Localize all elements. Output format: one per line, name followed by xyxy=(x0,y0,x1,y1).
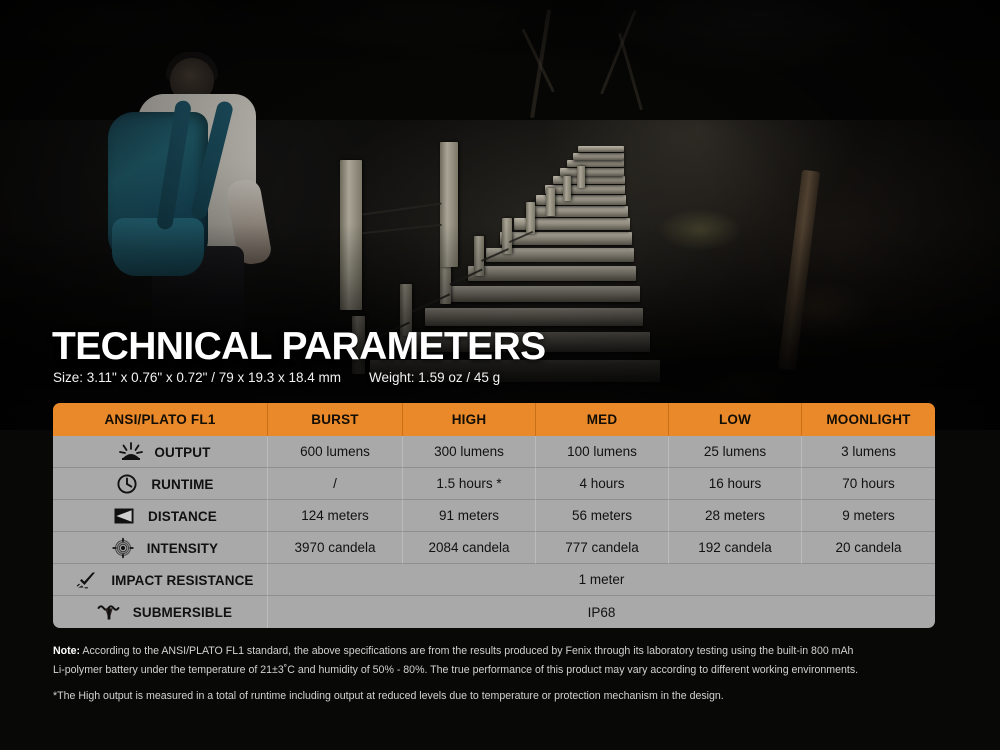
row-label-impact-resistance: IMPACT RESISTANCE xyxy=(53,564,268,596)
size-weight-line: Size: 3.11" x 0.76" x 0.72" / 79 x 19.3 … xyxy=(53,370,500,385)
row-label-text: DISTANCE xyxy=(148,509,217,524)
table-row: INTENSITY 3970 candela 2084 candela 777 … xyxy=(53,532,935,564)
row-label-distance: DISTANCE xyxy=(53,500,268,532)
cell-runtime-high: 1.5 hours * xyxy=(403,468,536,500)
table-row: DISTANCE 124 meters 91 meters 56 meters … xyxy=(53,500,935,532)
cell-distance-moonlight: 9 meters xyxy=(802,500,935,532)
clock-icon xyxy=(114,473,140,495)
cell-output-high: 300 lumens xyxy=(403,436,536,468)
cell-distance-low: 28 meters xyxy=(669,500,802,532)
cell-intensity-high: 2084 candela xyxy=(403,532,536,564)
cell-output-low: 25 lumens xyxy=(669,436,802,468)
cell-output-burst: 600 lumens xyxy=(268,436,403,468)
target-intensity-icon xyxy=(110,537,136,559)
cell-runtime-low: 16 hours xyxy=(669,468,802,500)
cell-distance-med: 56 meters xyxy=(536,500,669,532)
table-row: SUBMERSIBLE IP68 xyxy=(53,596,935,628)
cell-output-moonlight: 3 lumens xyxy=(802,436,935,468)
table-row: RUNTIME / 1.5 hours * 4 hours 16 hours 7… xyxy=(53,468,935,500)
footnote-line-3: *The High output is measured in a total … xyxy=(53,690,724,702)
weight-label: Weight: 1.59 oz / 45 g xyxy=(369,370,500,385)
cell-submersible-value: IP68 xyxy=(268,596,935,628)
table-row: OUTPUT 600 lumens 300 lumens 100 lumens … xyxy=(53,436,935,468)
row-label-text: OUTPUT xyxy=(154,445,210,460)
column-header-ansi: ANSI/PLATO FL1 xyxy=(53,403,268,436)
cell-runtime-med: 4 hours xyxy=(536,468,669,500)
column-header-burst: BURST xyxy=(268,403,403,436)
technical-parameters-table: ANSI/PLATO FL1 BURST HIGH MED LOW MOONLI… xyxy=(53,403,935,628)
cell-runtime-moonlight: 70 hours xyxy=(802,468,935,500)
beam-distance-icon xyxy=(111,505,137,527)
cell-intensity-burst: 3970 candela xyxy=(268,532,403,564)
column-header-med: MED xyxy=(536,403,669,436)
row-label-output: OUTPUT xyxy=(53,436,268,468)
row-label-intensity: INTENSITY xyxy=(53,532,268,564)
column-header-low: LOW xyxy=(669,403,802,436)
row-label-submersible: SUBMERSIBLE xyxy=(53,596,268,628)
light-burst-icon xyxy=(118,441,144,463)
row-label-runtime: RUNTIME xyxy=(53,468,268,500)
cell-distance-burst: 124 meters xyxy=(268,500,403,532)
column-header-high: HIGH xyxy=(403,403,536,436)
footnote-line-1: According to the ANSI/PLATO FL1 standard… xyxy=(80,645,853,657)
technical-parameters-table-wrapper: ANSI/PLATO FL1 BURST HIGH MED LOW MOONLI… xyxy=(53,403,935,628)
cell-distance-high: 91 meters xyxy=(403,500,536,532)
column-header-moonlight: MOONLIGHT xyxy=(802,403,935,436)
cell-output-med: 100 lumens xyxy=(536,436,669,468)
footnote-line-3-wrap: *The High output is measured in a total … xyxy=(53,687,953,706)
footnote-primary: Note: According to the ANSI/PLATO FL1 st… xyxy=(53,642,953,661)
row-label-text: INTENSITY xyxy=(147,541,218,556)
footnotes: Note: According to the ANSI/PLATO FL1 st… xyxy=(53,642,953,706)
table-row: IMPACT RESISTANCE 1 meter xyxy=(53,564,935,596)
footnote-line-2: Li-polymer battery under the temperature… xyxy=(53,664,858,676)
size-label: Size: 3.11" x 0.76" x 0.72" / 79 x 19.3 … xyxy=(53,370,341,385)
row-label-text: SUBMERSIBLE xyxy=(133,605,232,620)
table-header-row: ANSI/PLATO FL1 BURST HIGH MED LOW MOONLI… xyxy=(53,403,935,436)
row-label-text: RUNTIME xyxy=(151,477,213,492)
submersible-icon xyxy=(96,601,122,623)
footnote-note-label: Note: xyxy=(53,645,80,657)
impact-resistance-icon xyxy=(74,569,100,591)
cell-intensity-med: 777 candela xyxy=(536,532,669,564)
cell-impact-resistance-value: 1 meter xyxy=(268,564,935,596)
footnote-line-2-wrap: Li-polymer battery under the temperature… xyxy=(53,661,953,680)
page-title: TECHNICAL PARAMETERS xyxy=(52,325,546,369)
cell-intensity-low: 192 candela xyxy=(669,532,802,564)
cell-intensity-moonlight: 20 candela xyxy=(802,532,935,564)
cell-runtime-burst: / xyxy=(268,468,403,500)
product-spec-page: TECHNICAL PARAMETERS Size: 3.11" x 0.76"… xyxy=(0,0,1000,750)
row-label-text: IMPACT RESISTANCE xyxy=(111,573,253,588)
